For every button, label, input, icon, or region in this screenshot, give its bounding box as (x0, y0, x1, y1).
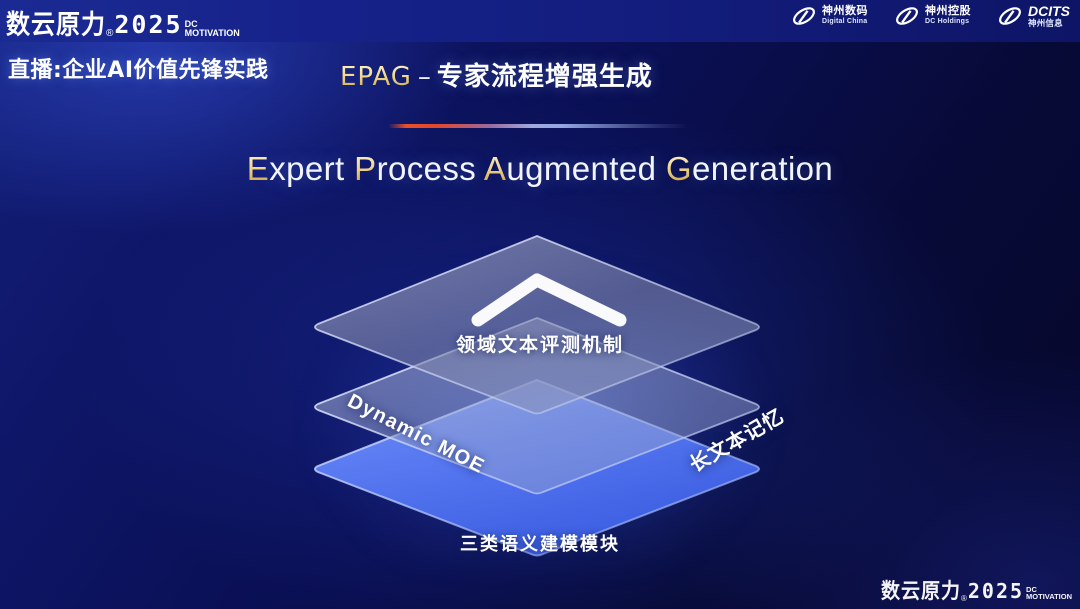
brand-motivation: MOTIVATION (1026, 594, 1072, 601)
subtitle-word-generation: eneration (692, 150, 833, 187)
subtitle-word-augmented: ugmented (506, 150, 666, 187)
registered-mark-icon: ® (961, 594, 967, 603)
brand-logo-header: 数云原力 ® 2025 DC MOTIVATION (6, 4, 240, 39)
brand-year: 2025 (968, 579, 1024, 603)
brand-motivation: MOTIVATION (185, 29, 240, 37)
partner-name-cn: 神州控股 (925, 6, 971, 18)
live-session-label: 直播:企业AI价值先锋实践 (8, 52, 269, 84)
brand-logo-footer: 数云原力 ® 2025 DC MOTIVATION (881, 576, 1072, 603)
swirl-logo-icon (997, 3, 1023, 29)
subtitle-initial-e: E (247, 150, 269, 187)
partner-logo-digital-china: 神州数码 Digital China (791, 3, 868, 29)
subtitle-initial-g: G (666, 150, 692, 187)
swirl-logo-icon (894, 3, 920, 29)
partner-name-en: DC Holdings (925, 18, 971, 25)
layer-top-label: 领域文本评测机制 (280, 330, 800, 357)
slide-canvas: 数云原力 ® 2025 DC MOTIVATION 神州数码 Digital C… (0, 0, 1080, 609)
title-chinese: 专家流程增强生成 (437, 62, 653, 92)
title-dash: – (418, 62, 431, 92)
subtitle-word-expert: xpert (269, 150, 354, 187)
brand-name-cn: 数云原力 (6, 2, 106, 41)
partner-name-cn: 神州数码 (822, 6, 868, 18)
partner-text: DCITS 神州信息 (1028, 4, 1070, 28)
registered-mark-icon: ® (106, 28, 113, 39)
partner-name-en: Digital China (822, 18, 868, 25)
subtitle-word-process: rocess (377, 150, 484, 187)
subtitle-expansion: Expert Process Augmented Generation (0, 150, 1080, 188)
subtitle-initial-a: A (484, 150, 506, 187)
brand-dc-motivation: DC MOTIVATION (1026, 587, 1072, 601)
subtitle-initial-p: P (354, 150, 376, 187)
brand-name-cn: 数云原力 (881, 574, 961, 604)
brand-year: 2025 (114, 10, 182, 39)
gradient-divider (388, 124, 688, 128)
title-acronym: EPAG (340, 62, 412, 92)
partner-logo-dc-holdings: 神州控股 DC Holdings (894, 3, 971, 29)
brand-dc-motivation: DC MOTIVATION (185, 20, 240, 37)
partner-logo-dcits: DCITS 神州信息 (997, 3, 1070, 29)
swirl-logo-icon (791, 3, 817, 29)
page-title: EPAG–专家流程增强生成 (340, 56, 653, 93)
partner-name-en: DCITS (1028, 4, 1070, 19)
partner-text: 神州数码 Digital China (822, 6, 868, 25)
partner-name-cn: 神州信息 (1028, 19, 1070, 28)
partner-logo-group: 神州数码 Digital China 神州控股 DC Holdings DCIT… (791, 3, 1070, 29)
layer-stack-diagram: 领域文本评测机制 三类语义建模模块 Dynamic MOE 长文本记忆 (280, 222, 800, 590)
partner-text: 神州控股 DC Holdings (925, 6, 971, 25)
